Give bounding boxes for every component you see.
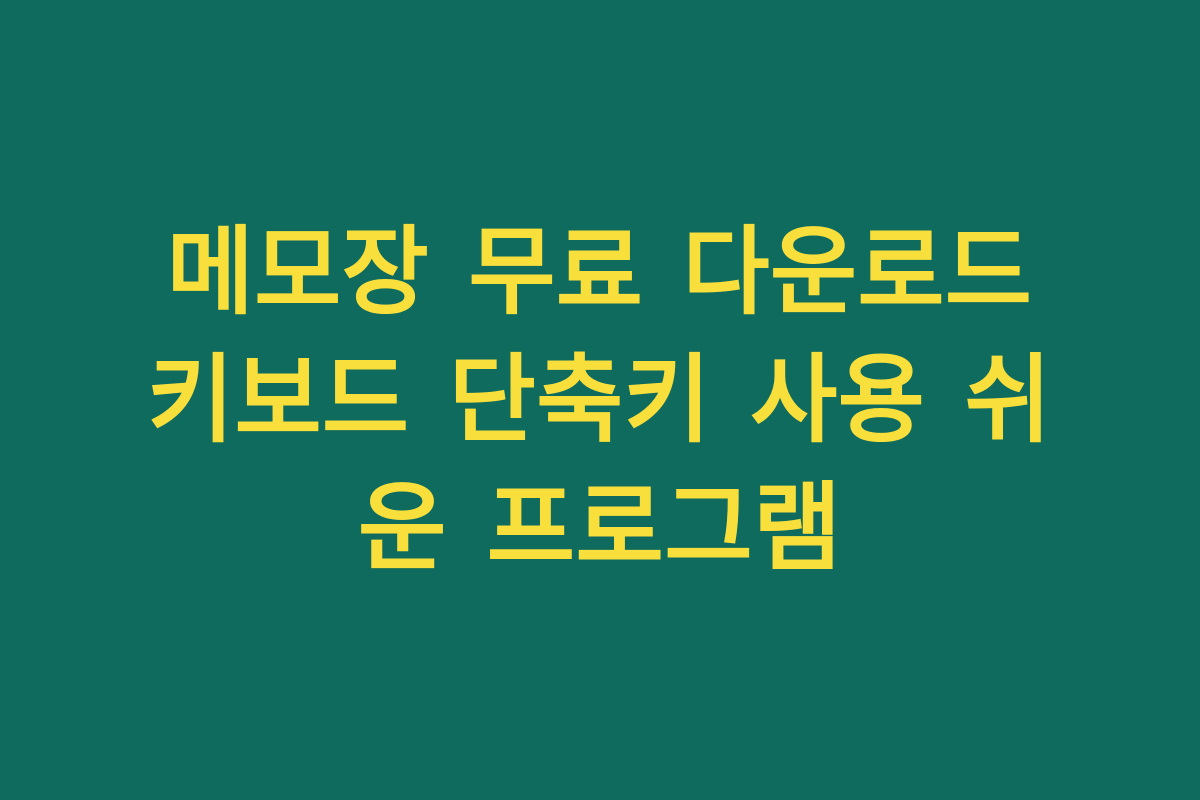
headline-line-2: 키보드 단축키 사용 쉬 (148, 336, 1053, 464)
headline-text: 메모장 무료 다운로드 키보드 단축키 사용 쉬 운 프로그램 (120, 80, 1080, 720)
headline-line-1: 메모장 무료 다운로드 (167, 208, 1033, 336)
headline-line-3: 운 프로그램 (120, 464, 1080, 592)
banner-canvas: 메모장 무료 다운로드 키보드 단축키 사용 쉬 운 프로그램 (0, 0, 1200, 800)
